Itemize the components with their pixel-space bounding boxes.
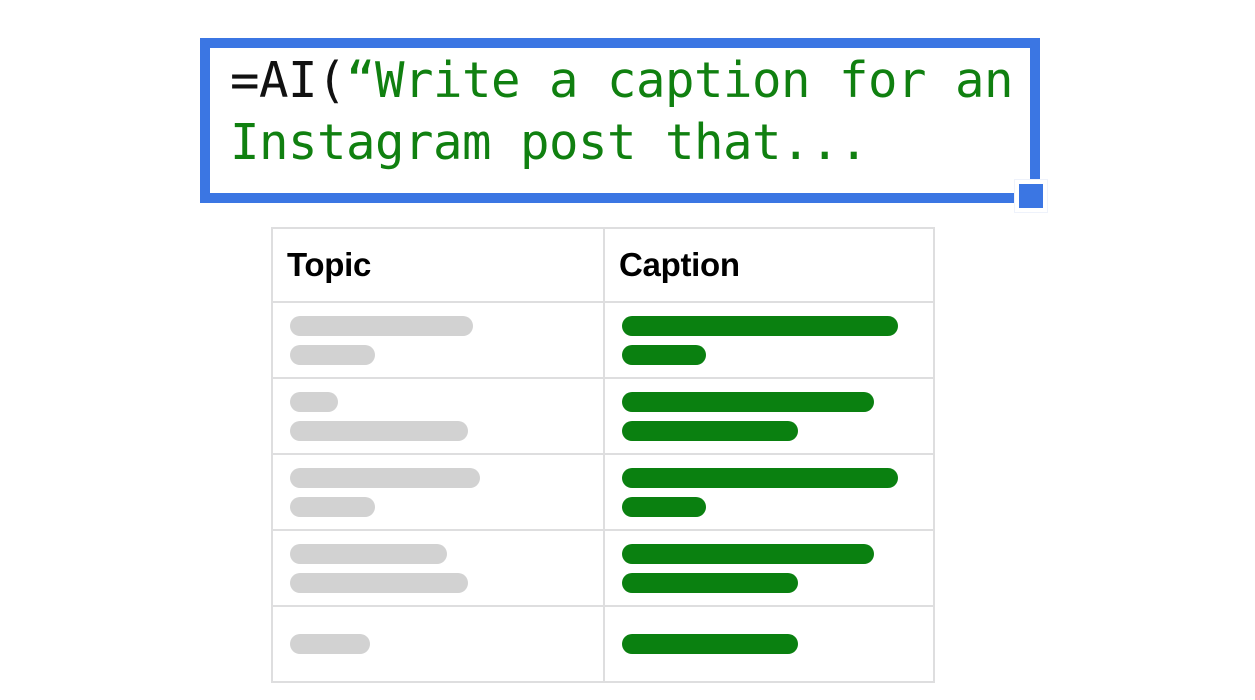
placeholder-bar-group [290,634,603,654]
placeholder-bar [290,497,375,517]
table-row[interactable] [272,606,934,682]
formula-function-token: =AI( [230,52,346,109]
placeholder-bar-group [622,544,933,593]
placeholder-bar [290,544,447,564]
table-header-row: Topic Caption [272,228,934,302]
topic-cell[interactable] [272,454,604,530]
placeholder-bar-group [622,468,933,517]
placeholder-bar [622,544,874,564]
placeholder-bar [622,497,706,517]
table-row[interactable] [272,454,934,530]
caption-cell[interactable] [604,530,934,606]
placeholder-bar [290,345,375,365]
caption-cell[interactable] [604,302,934,378]
column-header-caption[interactable]: Caption [604,228,934,302]
placeholder-bar-group [290,468,603,517]
placeholder-bar [622,421,798,441]
caption-cell[interactable] [604,378,934,454]
placeholder-bar [290,634,370,654]
topic-cell[interactable] [272,606,604,682]
table-row[interactable] [272,302,934,378]
results-table: Topic Caption [271,227,935,683]
table-body [272,302,934,682]
placeholder-bar [622,634,798,654]
formula-string-token: “Write a caption for an Instagram post t… [230,52,1042,171]
table-row[interactable] [272,530,934,606]
placeholder-bar [290,316,473,336]
placeholder-bar-group [622,634,933,654]
placeholder-bar [290,468,480,488]
placeholder-bar-group [622,316,933,365]
selected-cell-editor[interactable]: =AI(“Write a caption for an Instagram po… [200,38,1040,203]
formula-text[interactable]: =AI(“Write a caption for an Instagram po… [230,50,1026,174]
placeholder-bar [622,316,898,336]
placeholder-bar [622,392,874,412]
placeholder-bar-group [290,392,603,441]
placeholder-bar [622,345,706,365]
placeholder-bar-group [290,316,603,365]
table-row[interactable] [272,378,934,454]
caption-cell[interactable] [604,606,934,682]
fill-handle[interactable] [1015,180,1047,212]
placeholder-bar-group [622,392,933,441]
topic-cell[interactable] [272,378,604,454]
topic-cell[interactable] [272,302,604,378]
caption-cell[interactable] [604,454,934,530]
placeholder-bar [622,573,798,593]
placeholder-bar-group [290,544,603,593]
placeholder-bar [290,392,338,412]
placeholder-bar [290,573,468,593]
placeholder-bar [622,468,898,488]
placeholder-bar [290,421,468,441]
column-header-topic[interactable]: Topic [272,228,604,302]
topic-cell[interactable] [272,530,604,606]
